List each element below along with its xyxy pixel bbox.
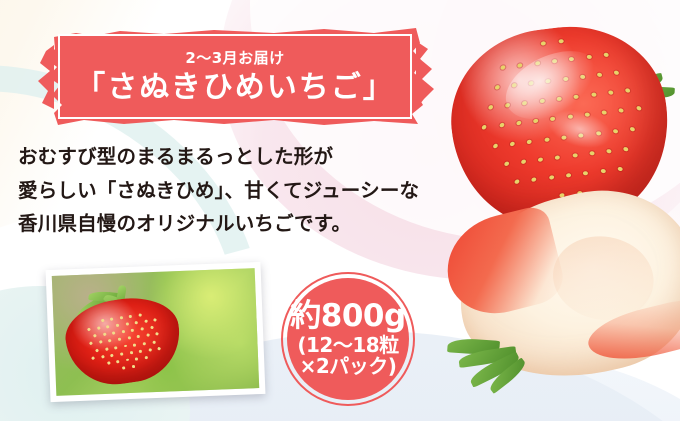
weight-badge: 約800g (12〜18粒 ×2パック) [281, 272, 415, 406]
banner-title-text: 「さぬきひめいちご」 [75, 73, 394, 103]
description-line-3: 香川県自慢のオリジナルいちごです。 [18, 207, 478, 241]
description-line-2: 愛らしい「さぬきひめ」、甘くてジューシーな [18, 174, 478, 208]
badge-detail-line-2: ×2パック) [300, 356, 397, 377]
description-text: おむすび型のまるまるっとした形が 愛らしい「さぬきひめ」、甘くてジューシーな 香… [18, 140, 478, 241]
cut-strawberry-calyx [445, 317, 554, 402]
strawberry-photo-card [46, 262, 266, 402]
badge-circle: 約800g (12〜18粒 ×2パック) [287, 278, 409, 400]
promo-banner-card: 2〜3月お届け 「さぬきひめいちご」 おむすび型のまるまるっとした形が 愛らしい… [0, 0, 680, 421]
badge-amount-text: 約800g [290, 301, 405, 332]
strawberry-photo [52, 268, 259, 396]
banner-kicker-text: 2〜3月お届け [185, 51, 284, 66]
description-line-1: おむすび型のまるまるっとした形が [18, 140, 478, 174]
photo-strawberry-seeds [61, 292, 185, 391]
banner-text-frame: 2〜3月お届け 「さぬきひめいちご」 [58, 34, 412, 119]
badge-detail-line-1: (12〜18粒 [297, 335, 398, 356]
headline-banner: 2〜3月お届け 「さぬきひめいちご」 [24, 21, 438, 131]
